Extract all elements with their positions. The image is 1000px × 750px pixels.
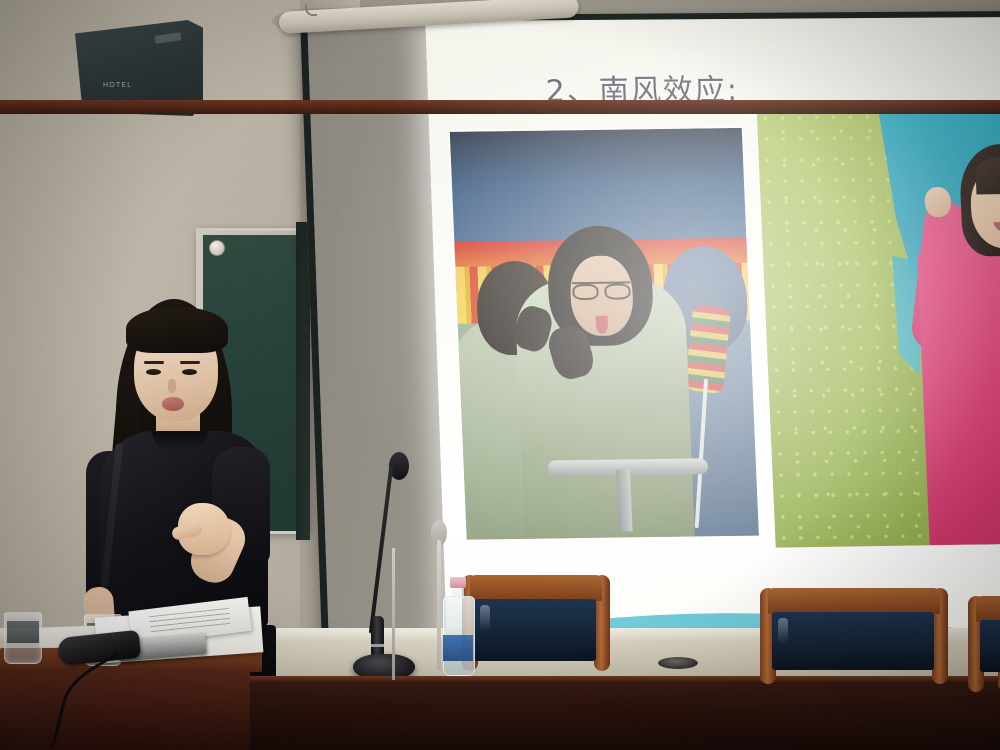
bicycle-stem xyxy=(616,469,633,531)
microphone-cable xyxy=(22,650,122,748)
cable-grommet xyxy=(658,657,698,669)
pink-jacket xyxy=(916,229,1000,545)
chair-highlight xyxy=(480,605,490,631)
presenter-brow-left xyxy=(144,361,164,364)
tongue-out xyxy=(596,316,609,334)
chair-far-right[interactable] xyxy=(968,596,1000,680)
table-front-edge-trim xyxy=(0,100,1000,114)
chair-top-rail xyxy=(976,596,1000,622)
eyeglasses-icon xyxy=(572,281,631,297)
chair-left[interactable] xyxy=(462,575,610,675)
speaker-brand-label: HOTEL xyxy=(103,82,132,89)
chair-center-right[interactable] xyxy=(760,588,948,680)
water-bottle[interactable] xyxy=(443,577,473,674)
gooseneck-microphone-dark[interactable] xyxy=(355,452,411,674)
raised-hand xyxy=(924,187,951,217)
chair-top-rail xyxy=(470,575,602,601)
presenter-eye-right xyxy=(182,369,197,375)
chair-upholstery xyxy=(474,599,596,661)
bottle-label xyxy=(443,635,473,661)
speaker-vent xyxy=(155,32,182,44)
cold-wind-photo xyxy=(450,128,759,540)
glass-contents xyxy=(7,621,39,643)
lecture-hall-photo: HOTEL 2、南风效应: xyxy=(0,0,1000,750)
chair-upholstery xyxy=(980,620,1000,672)
presenter-nose xyxy=(168,379,176,393)
microphone-stem xyxy=(437,540,441,670)
presenter-mouth xyxy=(162,397,184,411)
chair-top-rail xyxy=(768,588,940,614)
presenter-eye-left xyxy=(146,369,161,375)
warm-wind-photo xyxy=(757,104,1000,548)
chair-upholstery xyxy=(772,612,934,670)
chalkboard-magnet xyxy=(209,240,225,256)
chair-highlight xyxy=(778,618,788,644)
microphone-stem xyxy=(369,466,393,633)
presenter-bangs xyxy=(126,307,228,353)
presenter-brow-right xyxy=(180,361,200,364)
presenter xyxy=(60,295,290,655)
microphone-ring xyxy=(371,644,384,647)
thin-pole xyxy=(392,548,395,680)
bottle-cap xyxy=(450,577,466,588)
